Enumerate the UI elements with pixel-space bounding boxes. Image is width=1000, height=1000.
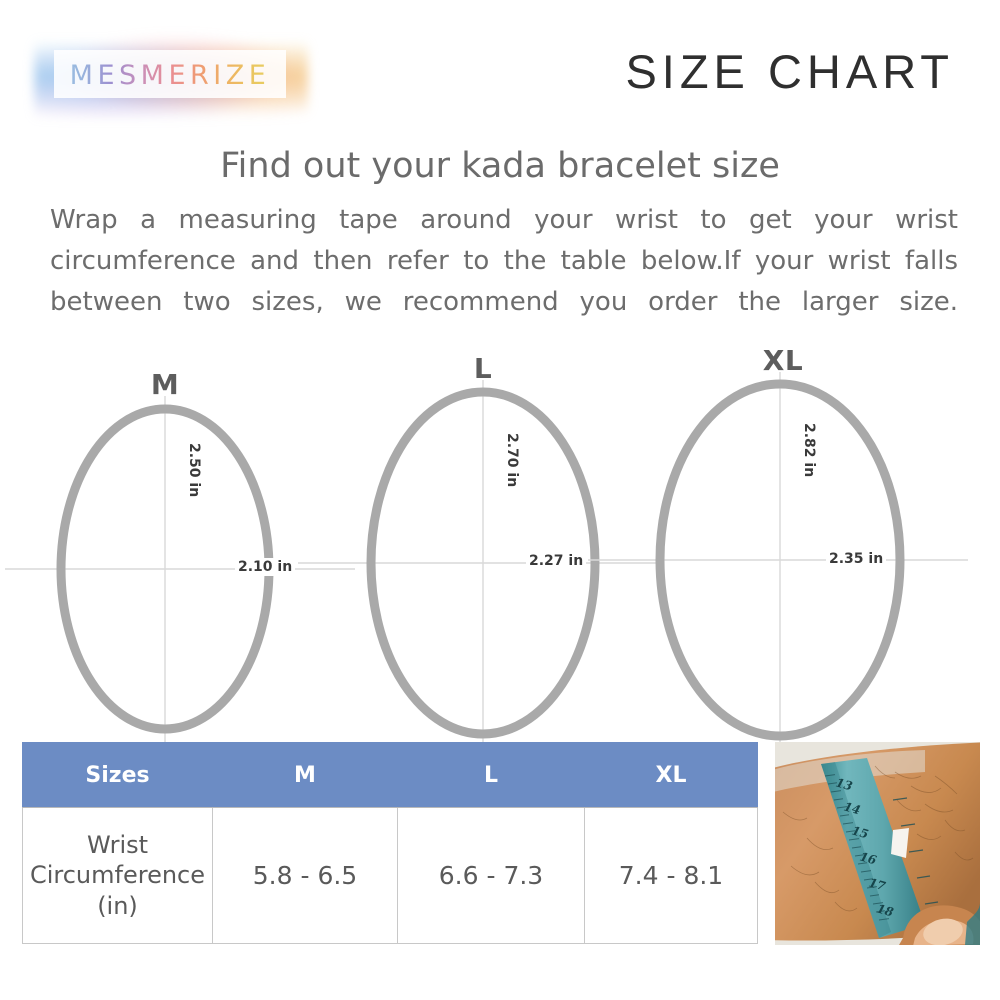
- page-title: SIZE CHART: [625, 44, 954, 99]
- intro-paragraph: Wrap a measuring tape around your wrist …: [50, 200, 958, 323]
- size-table: Sizes M L XL Wrist Circumference (in) 5.…: [22, 742, 758, 944]
- table-header-l: L: [398, 743, 585, 808]
- row-label-line-2: Circumference: [24, 860, 211, 890]
- dim-height-m: 2.50 in: [185, 440, 203, 500]
- dim-width-m: 2.10 in: [235, 558, 295, 576]
- wrist-measurement-photo: 13 14 15 16 17 18: [775, 742, 980, 945]
- brand-logo: MESMERIZE: [48, 44, 292, 106]
- cell-wrist-xl: 7.4 - 8.1: [585, 808, 758, 944]
- dim-height-xl: 2.82 in: [800, 420, 818, 480]
- brand-name: MESMERIZE: [48, 44, 292, 106]
- table-header-xl: XL: [585, 743, 758, 808]
- size-figure-xl: XL 2.82 in 2.35 in: [628, 340, 948, 740]
- row-label-line-1: Wrist: [24, 830, 211, 860]
- table-header-row: Sizes M L XL: [23, 743, 758, 808]
- size-figure-l: L 2.70 in 2.27 in: [338, 340, 638, 740]
- dim-height-l: 2.70 in: [503, 430, 521, 490]
- dim-width-l: 2.27 in: [526, 552, 586, 570]
- size-diagram-band: M 2.50 in 2.10 in L 2.70 in 2.27 in XL: [0, 340, 1000, 740]
- table-row: Wrist Circumference (in) 5.8 - 6.5 6.6 -…: [23, 808, 758, 944]
- headline: Find out your kada bracelet size: [0, 146, 1000, 186]
- table-header-m: M: [213, 743, 398, 808]
- oval-l: [338, 388, 638, 738]
- size-figure-label-xl: XL: [748, 344, 818, 377]
- dim-width-xl: 2.35 in: [826, 550, 886, 568]
- row-label-wrist-circumference: Wrist Circumference (in): [23, 808, 213, 944]
- row-label-line-3: (in): [24, 891, 211, 921]
- oval-xl: [628, 380, 948, 740]
- cell-wrist-l: 6.6 - 7.3: [398, 808, 585, 944]
- size-figure-m: M 2.50 in 2.10 in: [55, 340, 345, 740]
- cell-wrist-m: 5.8 - 6.5: [213, 808, 398, 944]
- table-header-sizes: Sizes: [23, 743, 213, 808]
